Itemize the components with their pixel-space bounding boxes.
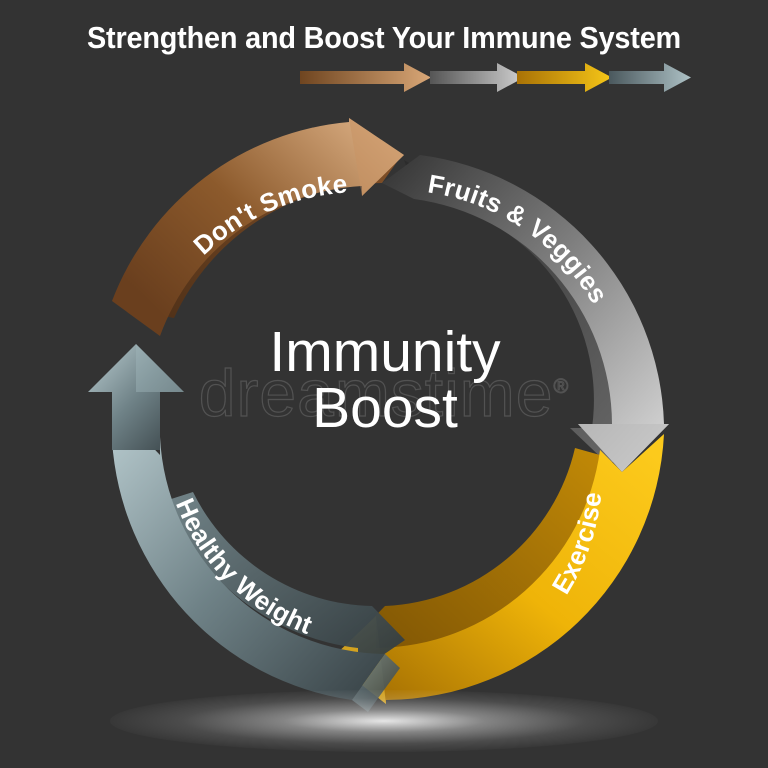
segment-dont-smoke[interactable]: Don't Smoke: [112, 118, 404, 336]
infographic-canvas: Strengthen and Boost Your Immune System: [0, 0, 768, 768]
immunity-cycle-diagram: Don't Smoke Fruits & Veggies Exercise: [0, 0, 768, 768]
healthy-weight-arrowhead-highlight: [136, 344, 184, 392]
segment-fruits-veggies[interactable]: Fruits & Veggies: [382, 155, 669, 472]
segment-healthy-weight[interactable]: Healthy Weight: [88, 344, 405, 712]
